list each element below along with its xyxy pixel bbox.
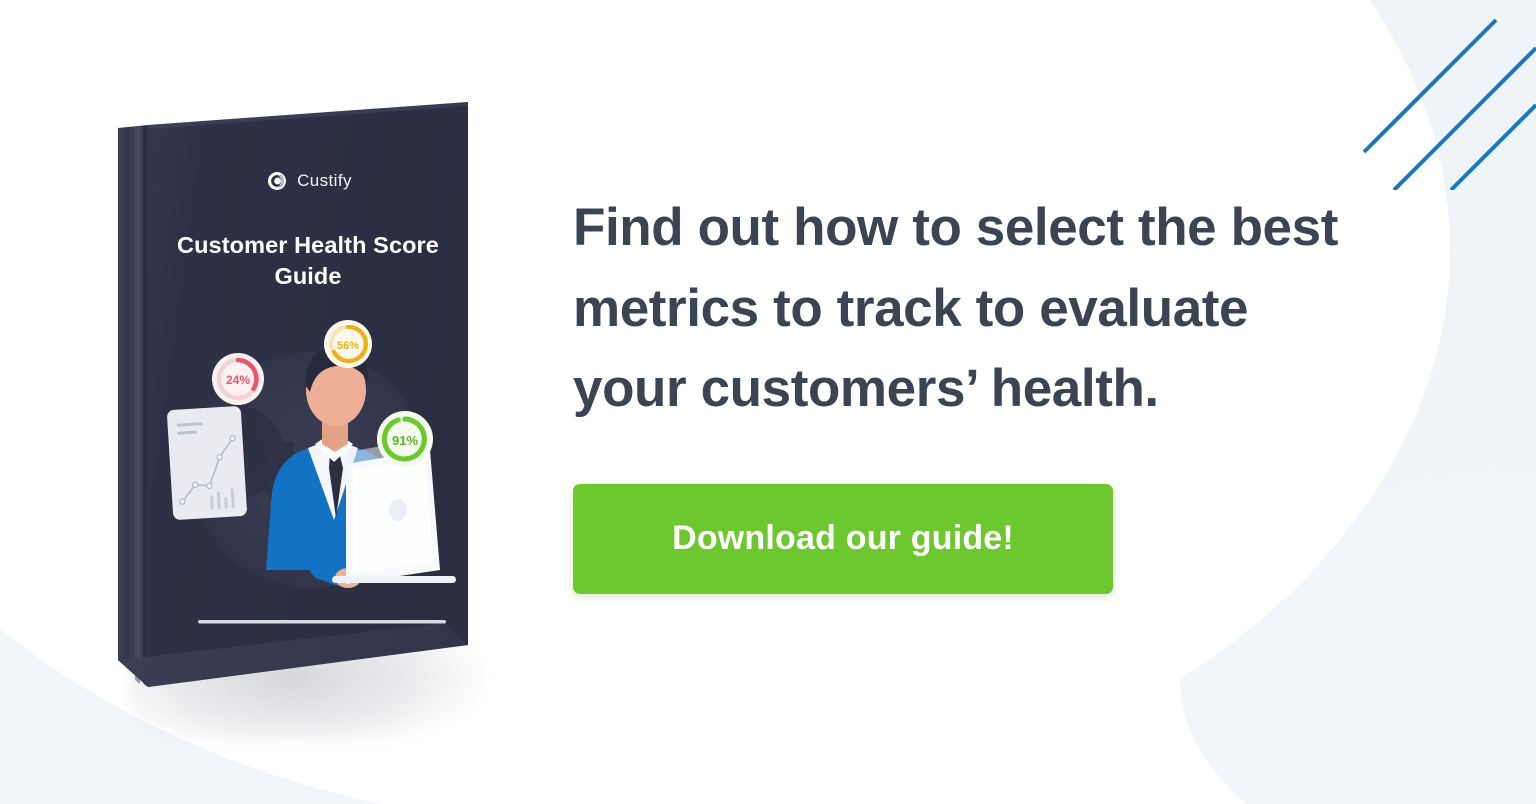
svg-text:56%: 56% bbox=[337, 340, 359, 352]
banner-content: Find out how to select the best metrics … bbox=[573, 188, 1473, 594]
cta-container: Download our guide! bbox=[573, 484, 1473, 594]
diagonal-lines-icon bbox=[1336, 0, 1536, 190]
promo-banner: 24% 56% 91% bbox=[0, 0, 1536, 804]
headline-line-3: your customers’ health. bbox=[573, 359, 1159, 418]
book-3d: 24% 56% 91% bbox=[110, 100, 482, 700]
ebook-mockup: 24% 56% 91% bbox=[110, 100, 510, 720]
svg-text:24%: 24% bbox=[226, 373, 250, 387]
download-guide-button[interactable]: Download our guide! bbox=[573, 484, 1113, 594]
headline-line-1: Find out how to select the best bbox=[573, 198, 1338, 257]
headline-line-2: metrics to track to evaluate bbox=[573, 279, 1248, 338]
headline: Find out how to select the best metrics … bbox=[573, 188, 1453, 430]
svg-text:91%: 91% bbox=[392, 433, 418, 448]
